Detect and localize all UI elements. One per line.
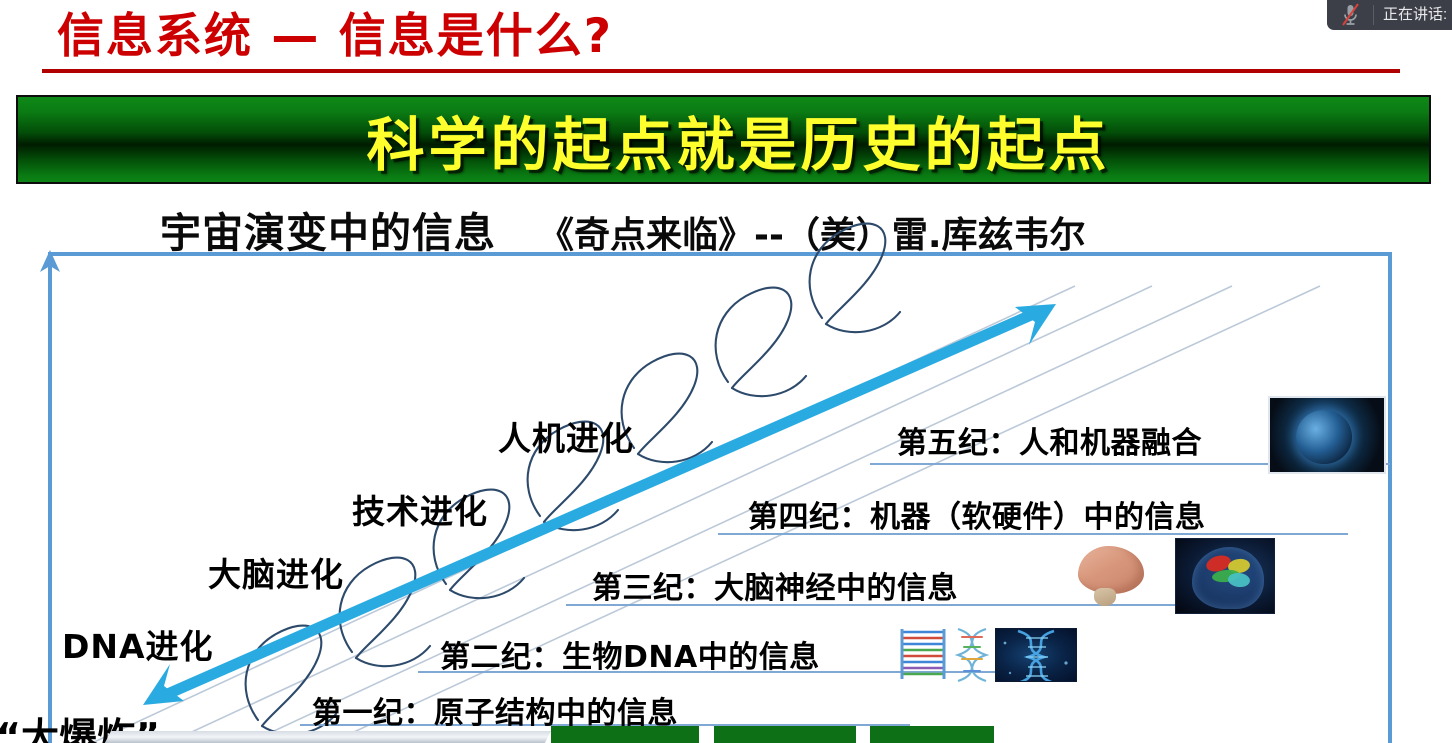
dna-ladder-diagram-image [895, 627, 951, 683]
earth-globe-photo-image [1268, 396, 1386, 474]
era-label-fourth: 第四纪：机器（软硬件）中的信息 [748, 492, 1206, 536]
slide-stage: 信息系统 — 信息是什么? 科学的起点就是历史的起点 宇宙演变中的信息 《奇点来… [0, 0, 1452, 743]
evolution-label-brain: 大脑进化 [208, 548, 344, 596]
headline-banner-text: 科学的起点就是历史的起点 [336, 98, 1110, 182]
subtitle-source-citation: 《奇点来临》--（美）雷.库兹韦尔 [538, 206, 1086, 258]
speaking-status-label: 正在讲话: [1374, 0, 1447, 30]
page-title: 信息系统 — 信息是什么? [57, 0, 613, 66]
subtitle-row: 宇宙演变中的信息 《奇点来临》--（美）雷.库兹韦尔 [160, 199, 1086, 259]
head-brain-scan-photo-image [1175, 538, 1275, 614]
bottom-green-bar [714, 726, 856, 743]
evolution-label-tech: 技术进化 [352, 485, 488, 533]
bottom-green-bar [870, 726, 994, 743]
title-underline-rule [42, 69, 1400, 73]
microphone-muted-icon[interactable] [1327, 0, 1373, 30]
dna-helix-sketch-image [948, 625, 998, 683]
headline-banner: 科学的起点就是历史的起点 [16, 95, 1431, 184]
era-label-third: 第三纪：大脑神经中的信息 [592, 563, 958, 607]
dna-double-helix-photo-image [995, 628, 1077, 682]
era-label-fifth: 第五纪：人和机器融合 [897, 418, 1202, 462]
human-brain-photo-image [1072, 540, 1152, 612]
subtitle-main: 宇宙演变中的信息 [160, 199, 496, 259]
bottom-green-bar [551, 726, 699, 743]
evolution-label-dna: DNA进化 [62, 620, 214, 668]
bottom-slab-shape [105, 731, 551, 743]
meeting-status-bar[interactable]: 正在讲话: [1327, 0, 1452, 30]
era-label-second: 第二纪：生物DNA中的信息 [440, 632, 820, 676]
evolution-label-human-machine: 人机进化 [498, 412, 634, 460]
